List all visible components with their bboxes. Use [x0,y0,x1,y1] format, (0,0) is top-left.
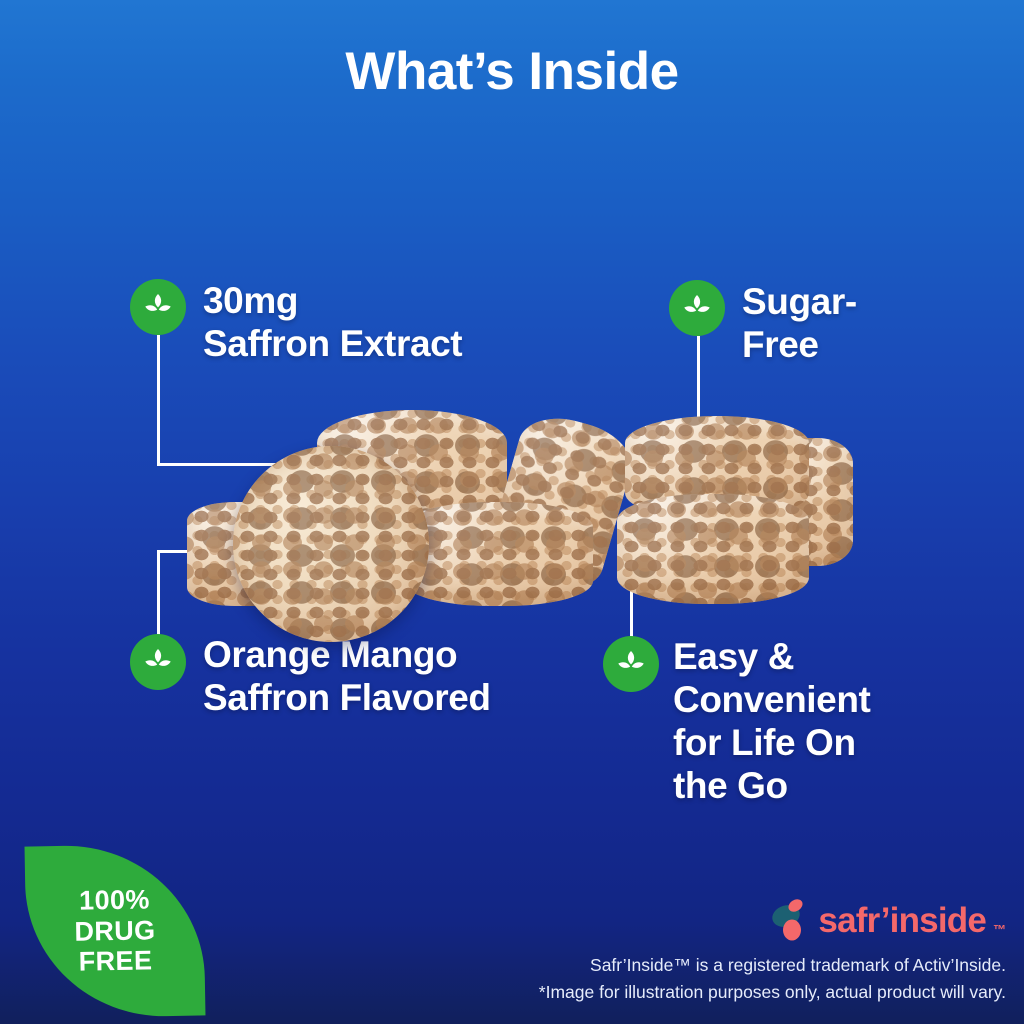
safr-inside-logo: safr’inside ™ [771,898,1006,942]
tablet-speckle [233,446,429,642]
tablet-middle-front [403,502,593,606]
footer-line-1: Safr’Inside™ is a registered trademark o… [0,952,1006,979]
logo-wordmark: safr’inside [818,903,986,938]
callout-label-saffron-extract: 30mg Saffron Extract [203,280,462,366]
tablet-stack-bottom [617,494,809,604]
leaf-icon [611,644,651,684]
tablet-face-on [233,446,429,642]
leader-line-saffron-extract-vertical [157,335,160,463]
safr-inside-logo-mark-icon [771,898,809,942]
tablet-speckle [403,502,593,606]
leaf-icon [138,642,178,682]
footer-line-2: *Image for illustration purposes only, a… [0,979,1006,1006]
product-tablets-image [185,398,845,620]
drug-free-line-2: DRUG [74,915,156,947]
callout-badge-sugar-free [669,280,725,336]
callout-label-sugar-free: Sugar- Free [742,281,857,367]
leaf-icon [138,287,178,327]
footer-disclaimer: Safr’Inside™ is a registered trademark o… [0,952,1006,1006]
callout-badge-flavor [130,634,186,690]
tablet-speckle [617,494,809,604]
whats-inside-infographic: What’s Inside 30mg Saffron Extract [0,0,1024,1024]
callout-label-easy-convenient: Easy & Convenient for Life On the Go [673,636,870,808]
callout-label-flavor: Orange Mango Saffron Flavored [203,634,491,720]
leader-line-flavor-vertical [157,550,160,646]
drug-free-line-1: 100% [79,885,150,917]
callout-badge-saffron-extract [130,279,186,335]
logo-trademark-symbol: ™ [993,922,1006,942]
leaf-icon [677,288,717,328]
page-title: What’s Inside [0,44,1024,100]
callout-badge-easy-convenient [603,636,659,692]
